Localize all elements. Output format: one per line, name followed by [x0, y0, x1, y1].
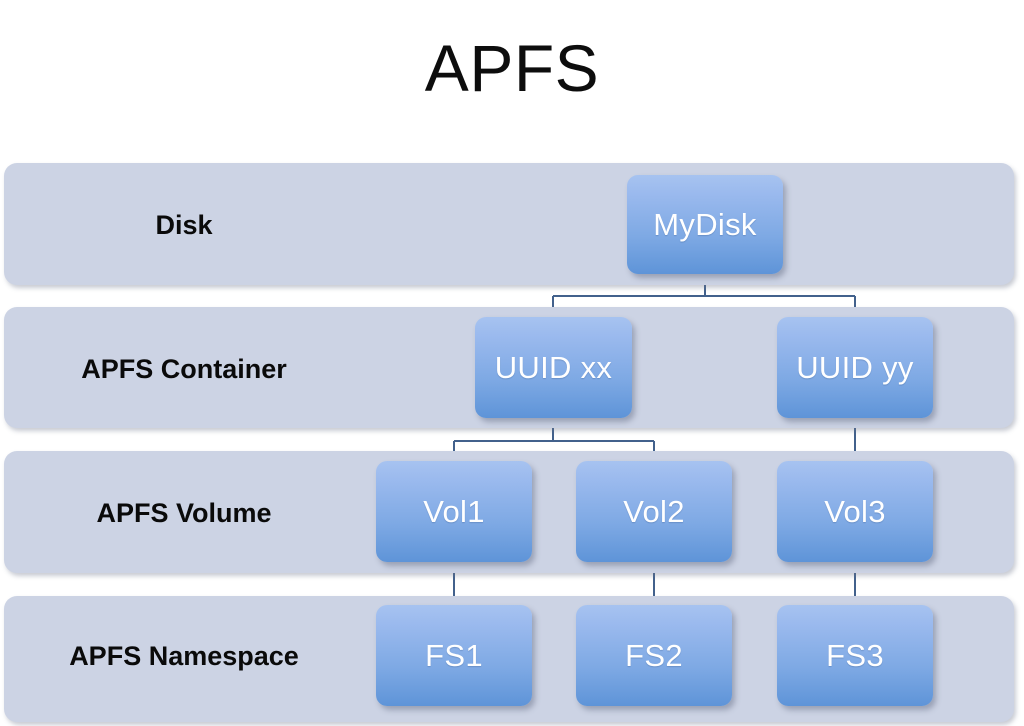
node-fs2[interactable]: FS2 [576, 605, 732, 706]
layer-band-disk: Disk [4, 163, 1014, 285]
node-vol1[interactable]: Vol1 [376, 461, 532, 562]
node-fs3[interactable]: FS3 [777, 605, 933, 706]
node-vol2[interactable]: Vol2 [576, 461, 732, 562]
layer-label-volume: APFS Volume [4, 498, 364, 529]
layer-label-disk: Disk [4, 210, 364, 241]
node-mydisk[interactable]: MyDisk [627, 175, 783, 274]
node-uuid-yy[interactable]: UUID yy [777, 317, 933, 418]
node-vol3[interactable]: Vol3 [777, 461, 933, 562]
node-fs1[interactable]: FS1 [376, 605, 532, 706]
layer-label-container: APFS Container [4, 354, 364, 385]
diagram-canvas: APFS Disk APFS Container A [0, 0, 1024, 726]
node-uuid-xx[interactable]: UUID xx [475, 317, 632, 418]
page-title: APFS [0, 28, 1024, 108]
layer-label-namespace: APFS Namespace [4, 641, 364, 672]
